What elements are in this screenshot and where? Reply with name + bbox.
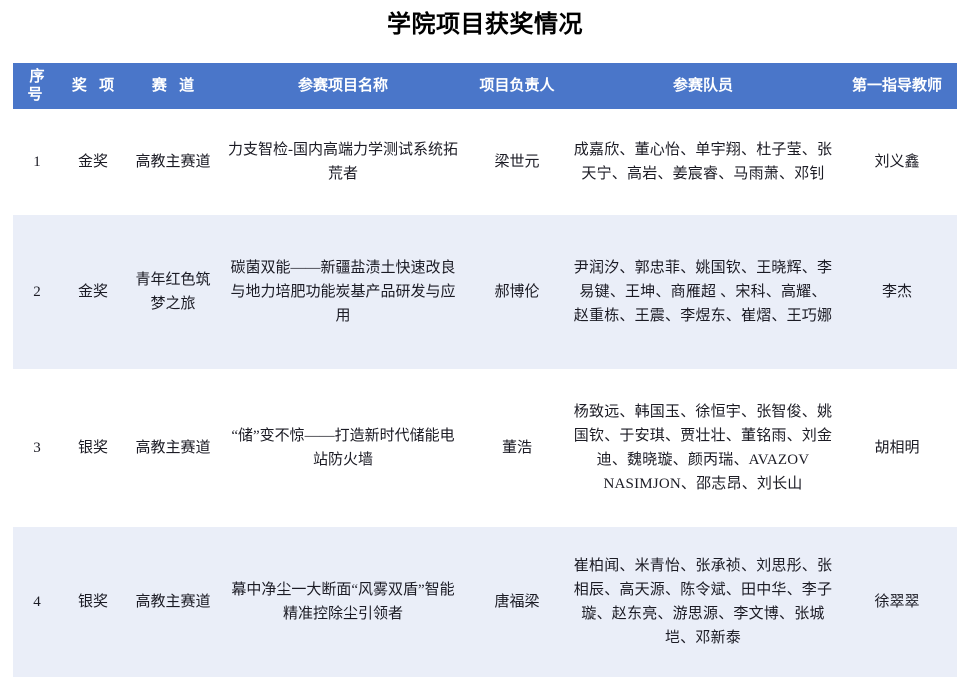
- cell-advisor: 李杰: [837, 215, 957, 369]
- column-header-track: 赛 道: [125, 63, 221, 109]
- page-title: 学院项目获奖情况: [0, 0, 970, 40]
- table-row: 1 金奖 高教主赛道 力支智检-国内高端力学测试系统拓荒者 梁世元 成嘉欣、董心…: [13, 109, 957, 215]
- cell-leader: 郝博伦: [465, 215, 569, 369]
- cell-members: 成嘉欣、董心怡、单宇翔、杜子莹、张天宁、高岩、姜宸睿、马雨萧、邓钊: [569, 109, 837, 215]
- cell-track: 高教主赛道: [125, 527, 221, 677]
- cell-track: 高教主赛道: [125, 109, 221, 215]
- table-header: 序 号 奖 项 赛 道 参赛项目名称 项目负责人 参赛队员 第一指导教师: [13, 63, 957, 109]
- cell-members: 崔柏闻、米青怡、张承祯、刘思彤、张相辰、高天源、陈令斌、田中华、李子璇、赵东亮、…: [569, 527, 837, 677]
- column-header-members: 参赛队员: [569, 63, 837, 109]
- column-header-advisor: 第一指导教师: [837, 63, 957, 109]
- cell-track: 青年红色筑梦之旅: [125, 215, 221, 369]
- column-header-leader: 项目负责人: [465, 63, 569, 109]
- cell-project: “储”变不惊——打造新时代储能电站防火墙: [221, 369, 465, 527]
- table-header-row: 序 号 奖 项 赛 道 参赛项目名称 项目负责人 参赛队员 第一指导教师: [13, 63, 957, 109]
- cell-award: 金奖: [61, 215, 125, 369]
- cell-award: 银奖: [61, 369, 125, 527]
- table-row: 2 金奖 青年红色筑梦之旅 碳菌双能——新疆盐渍土快速改良与地力培肥功能炭基产品…: [13, 215, 957, 369]
- cell-advisor: 徐翠翠: [837, 527, 957, 677]
- award-table: 序 号 奖 项 赛 道 参赛项目名称 项目负责人 参赛队员 第一指导教师 1 金…: [13, 63, 957, 677]
- cell-no: 1: [13, 109, 61, 215]
- table-row: 4 银奖 高教主赛道 幕中净尘一大断面“风雾双盾”智能精准控除尘引领者 唐福梁 …: [13, 527, 957, 677]
- cell-project: 幕中净尘一大断面“风雾双盾”智能精准控除尘引领者: [221, 527, 465, 677]
- cell-no: 4: [13, 527, 61, 677]
- table-body: 1 金奖 高教主赛道 力支智检-国内高端力学测试系统拓荒者 梁世元 成嘉欣、董心…: [13, 109, 957, 677]
- column-header-project: 参赛项目名称: [221, 63, 465, 109]
- cell-leader: 梁世元: [465, 109, 569, 215]
- cell-members: 杨致远、韩国玉、徐恒宇、张智俊、姚国钦、于安琪、贾壮壮、董铭雨、刘金迪、魏晓璇、…: [569, 369, 837, 527]
- cell-advisor: 胡相明: [837, 369, 957, 527]
- cell-no: 3: [13, 369, 61, 527]
- cell-award: 金奖: [61, 109, 125, 215]
- table-row: 3 银奖 高教主赛道 “储”变不惊——打造新时代储能电站防火墙 董浩 杨致远、韩…: [13, 369, 957, 527]
- cell-project: 力支智检-国内高端力学测试系统拓荒者: [221, 109, 465, 215]
- cell-leader: 唐福梁: [465, 527, 569, 677]
- cell-members: 尹润汐、郭忠菲、姚国钦、王晓辉、李易键、王坤、商雁超 、宋科、高耀、赵重栋、王震…: [569, 215, 837, 369]
- document-page: 学院项目获奖情况 序 号 奖 项 赛 道 参赛项目名称 项目负责人 参赛队: [0, 0, 970, 679]
- cell-advisor: 刘义鑫: [837, 109, 957, 215]
- cell-no: 2: [13, 215, 61, 369]
- cell-project: 碳菌双能——新疆盐渍土快速改良与地力培肥功能炭基产品研发与应用: [221, 215, 465, 369]
- column-header-award: 奖 项: [61, 63, 125, 109]
- column-header-no: 序 号: [13, 63, 61, 109]
- award-table-container: 序 号 奖 项 赛 道 参赛项目名称 项目负责人 参赛队员 第一指导教师 1 金…: [13, 63, 957, 677]
- cell-award: 银奖: [61, 527, 125, 677]
- cell-track: 高教主赛道: [125, 369, 221, 527]
- cell-leader: 董浩: [465, 369, 569, 527]
